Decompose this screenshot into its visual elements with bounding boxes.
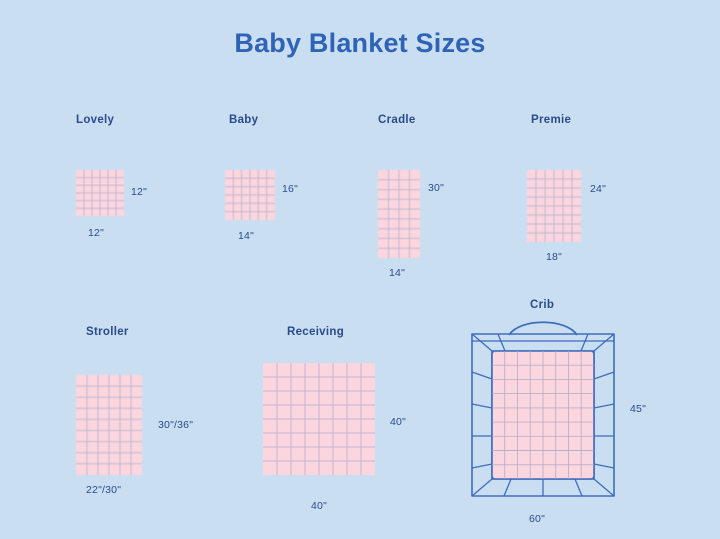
blanket-width-baby: 14" [238, 230, 254, 242]
crib-slat-left-4 [472, 464, 492, 468]
blanket-height-lovely: 12" [131, 186, 147, 198]
crib-slat-right-2 [594, 404, 614, 408]
blanket-label-cradle: Cradle [378, 114, 416, 126]
blanket-width-crib: 60" [529, 513, 545, 525]
blanket-height-cradle: 30" [428, 182, 444, 194]
crib-illustration [468, 318, 618, 500]
blanket-label-crib: Crib [530, 299, 554, 311]
crib-corner-miter-tl [472, 334, 492, 351]
blanket-grid-lovely [76, 170, 124, 216]
blanket-swatch-baby [225, 170, 275, 220]
blanket-grid-receiving [263, 363, 375, 475]
crib-corner-miter-bl [472, 479, 492, 496]
crib-slat-right-4 [594, 464, 614, 468]
blanket-height-receiving: 40" [390, 416, 406, 428]
blanket-label-stroller: Stroller [86, 326, 129, 338]
blanket-swatch-cradle [378, 170, 420, 258]
blanket-width-lovely: 12" [88, 227, 104, 239]
blanket-width-receiving: 40" [311, 500, 327, 512]
page-title: Baby Blanket Sizes [0, 28, 720, 59]
crib-slat-top-1 [498, 334, 505, 351]
crib-svg [468, 318, 618, 500]
blanket-swatch-receiving [263, 363, 375, 475]
crib-headboard-arch [509, 322, 577, 335]
blanket-swatch-lovely [76, 170, 124, 216]
crib-corner-miter-br [594, 479, 614, 496]
crib-slat-right-1 [594, 372, 614, 379]
blanket-height-baby: 16" [282, 183, 298, 195]
crib-slat-top-2 [581, 334, 588, 351]
blanket-grid-premie [527, 170, 581, 242]
blanket-width-premie: 18" [546, 251, 562, 263]
blanket-grid-cradle [378, 170, 420, 258]
blanket-height-premie: 24" [590, 183, 606, 195]
blanket-width-stroller: 22"/30" [86, 484, 121, 496]
blanket-label-premie: Premie [531, 114, 571, 126]
blanket-grid-baby [225, 170, 275, 220]
crib-slat-left-2 [472, 404, 492, 408]
blanket-label-receiving: Receiving [287, 326, 344, 338]
blanket-height-stroller: 30"/36" [158, 419, 193, 431]
crib-slat-left-1 [472, 372, 492, 379]
blanket-swatch-stroller [76, 375, 142, 475]
blanket-grid-stroller [76, 375, 142, 475]
blanket-label-baby: Baby [229, 114, 258, 126]
infographic-canvas: Baby Blanket Sizes Lovely 12" 12" Baby 1… [0, 0, 720, 539]
crib-corner-miter-tr [594, 334, 614, 351]
blanket-label-lovely: Lovely [76, 114, 114, 126]
blanket-height-crib: 45" [630, 403, 646, 415]
crib-slat-bottom-1 [504, 479, 511, 496]
blanket-swatch-premie [527, 170, 581, 242]
crib-slat-bottom-3 [575, 479, 582, 496]
blanket-width-cradle: 14" [389, 267, 405, 279]
